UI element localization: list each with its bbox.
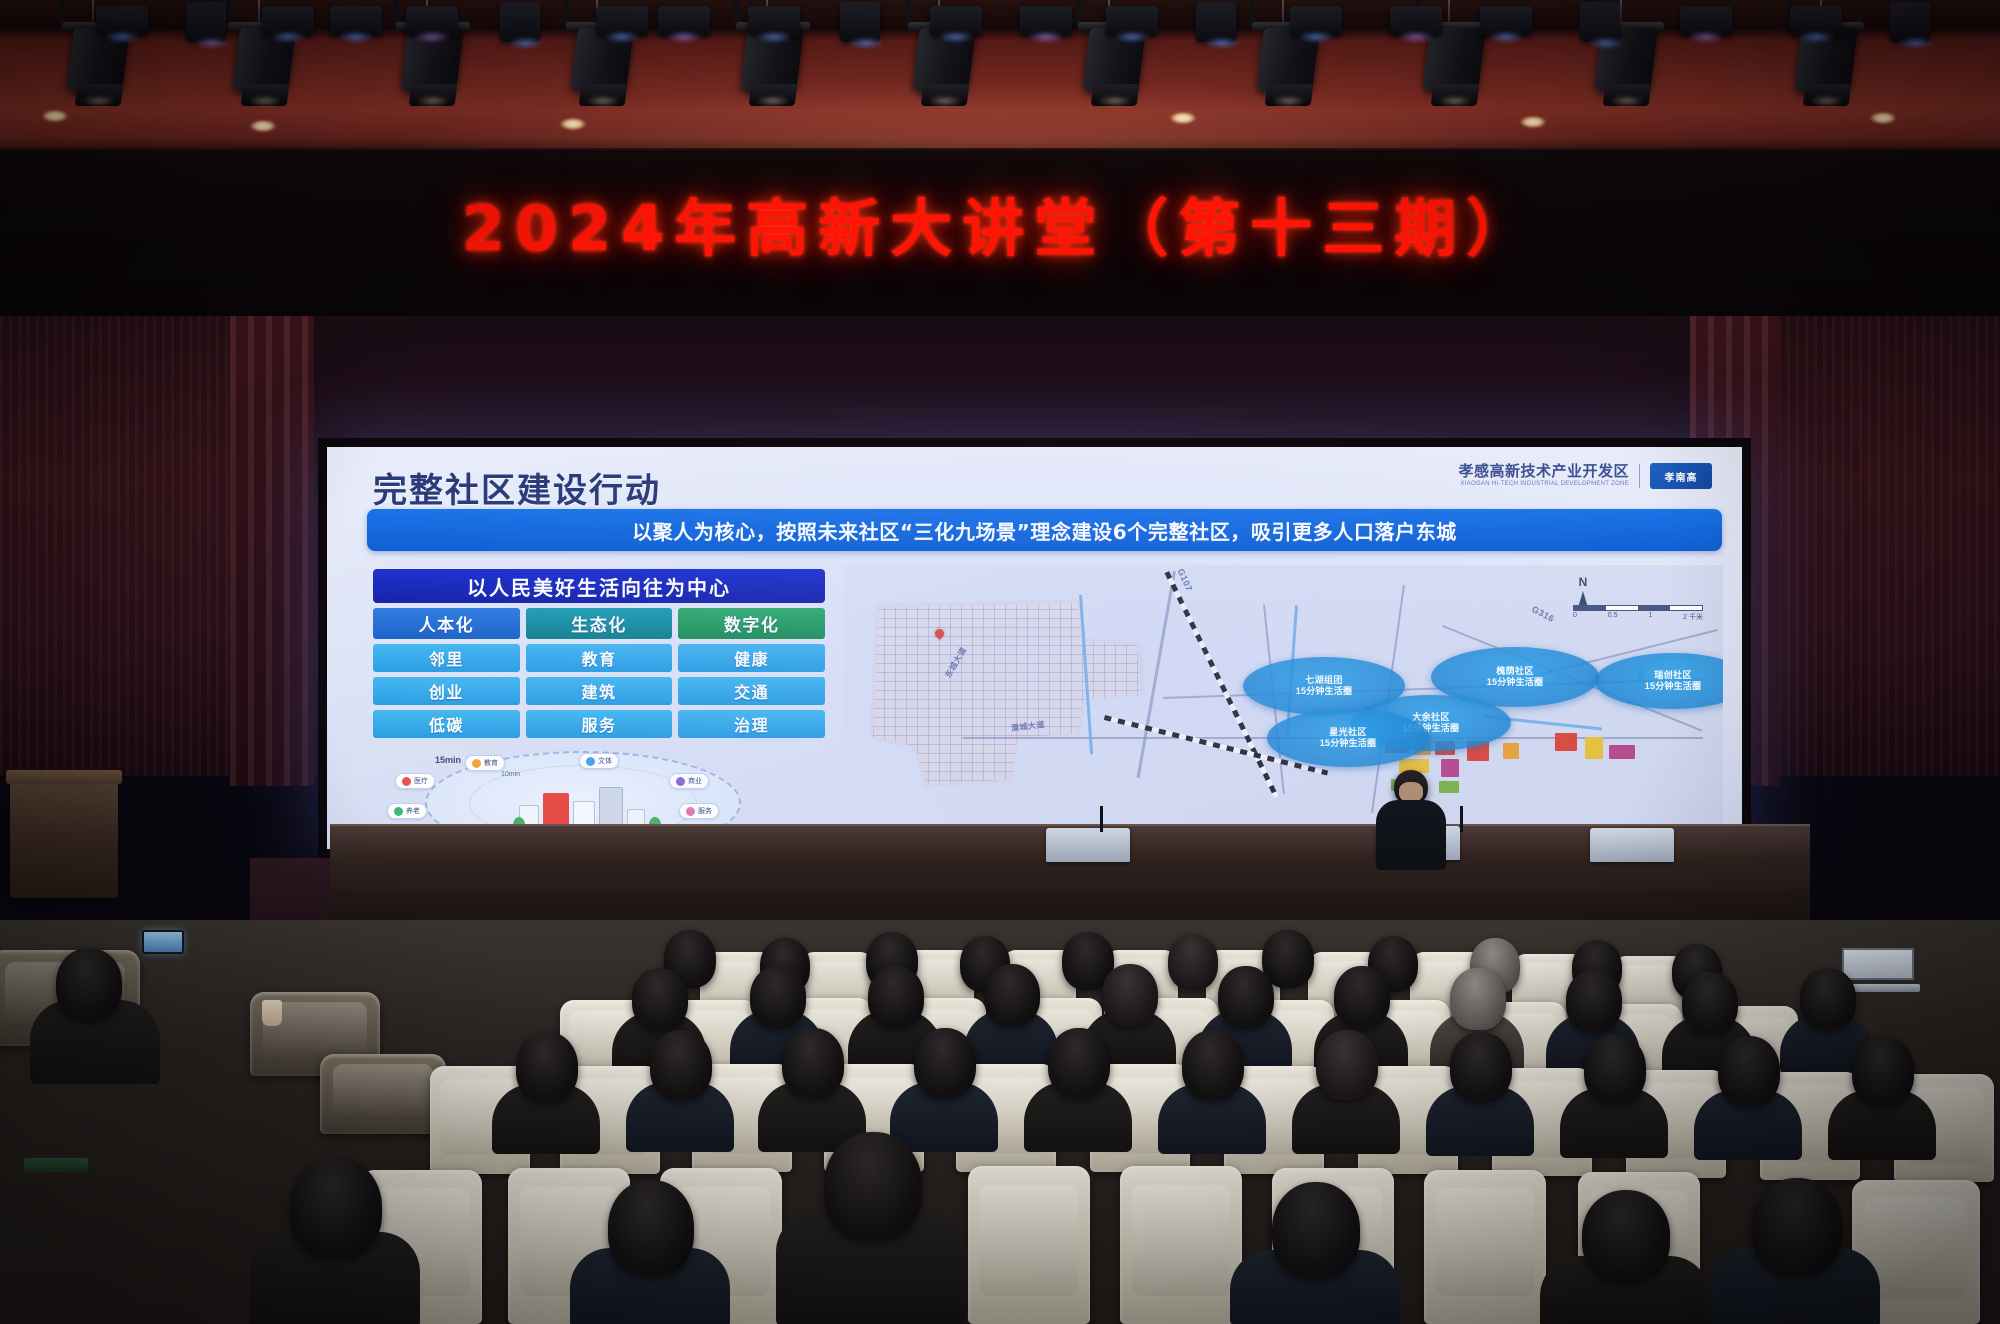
slide-brand: 孝感高新技术产业开发区 XIAOGAN HI-TECH INDUSTRIAL D… [1458,463,1712,489]
attendee-head [868,966,924,1028]
attendee-head [516,1032,578,1102]
attendee-head [1450,1032,1512,1102]
amenity-label: 养老 [406,806,420,816]
amenity-label: 文体 [598,756,612,766]
presenter-face [1399,782,1423,802]
attendee-head [1852,1036,1914,1106]
microphone-stand [1100,806,1103,832]
matrix-row: 低碳 服务 治理 [373,710,825,738]
slide-title: 完整社区建设行动 [373,463,661,512]
slide-headline-bar: 以聚人为核心，按照未来社区“三化九场景”理念建设6个完整社区，吸引更多人口落户东… [367,509,1722,551]
stage-wash-light [1680,6,1732,36]
development-block [1609,745,1635,759]
education-icon [472,759,481,768]
attendee-head [1182,1030,1244,1100]
service-icon [686,807,695,816]
presentation-slide: 完整社区建设行动 孝感高新技术产业开发区 XIAOGAN HI-TECH IND… [327,447,1742,849]
downlight [1870,112,1896,124]
amenity-node: 服务 [679,803,719,819]
downlight [1520,116,1546,128]
stage-wash-light [330,6,382,36]
downlight [250,120,276,132]
stage-wash-light [262,6,314,36]
zone-sub: 15分钟生活圈 [1320,738,1376,749]
auditorium-seat [1120,1166,1242,1324]
stage-wash-light [500,2,540,42]
compass-north-label: N [1571,575,1595,589]
development-block [1503,743,1519,759]
amenity-node: 教育 [465,755,505,771]
attendee-head [1566,970,1622,1032]
attendee-head [1584,1034,1646,1104]
amenity-node: 养老 [387,803,427,819]
proscenium-wall: 2024年高新大讲堂（第十三期） [0,148,2000,318]
matrix-cell: 交通 [678,677,825,705]
laptop-on-table [1046,828,1130,862]
zone-name: 大余社区 [1412,712,1450,723]
stage-wash-light [1580,2,1620,42]
attendee-head [1334,966,1390,1028]
attendee-head [984,964,1040,1026]
scale-tick: 0 [1573,612,1577,622]
culture-sports-icon [586,757,595,766]
side-wall-right [1760,316,2000,776]
label-15min: 15min [435,755,461,765]
matrix-column-headers: 人本化 生态化 数字化 [373,608,825,639]
district-map: G107 G316 澴城大道 东城大道 [843,565,1723,849]
attendee-head [1316,1030,1378,1100]
stage-wash-light [930,6,982,36]
matrix-cell: 健康 [678,644,825,672]
map-scale-bar: 0 0.5 1 2 千米 [1573,605,1703,622]
commerce-icon [676,777,685,786]
eldercare-icon [394,807,403,816]
matrix-cell: 治理 [678,710,825,738]
stage-wash-light [1480,6,1532,36]
stage-wash-light [748,6,800,36]
attendee-head [824,1132,922,1240]
zone-name: 瑞创社区 [1654,670,1692,681]
stage-wash-light [1890,2,1930,42]
stage-wash-light [1290,6,1342,36]
smartphone-recording [142,930,184,954]
matrix-row: 创业 建筑 交通 [373,677,825,705]
attendee-head [1582,1190,1670,1282]
attendee-head [782,1028,844,1098]
road-label-g316: G316 [1530,604,1556,624]
stage-wash-light [658,6,710,36]
laptop-on-table [1590,828,1674,862]
auditorium-photo: 2024年高新大讲堂（第十三期） 完整社区建设行动 孝感高新技术产业开发区 XI… [0,0,2000,1324]
attendee-head [1718,1036,1780,1106]
attendee-head [1102,964,1158,1026]
scale-tick: 2 千米 [1683,612,1703,622]
amenity-node: 商业 [669,773,709,789]
attendee-head [650,1030,712,1100]
brand-name-cn: 孝感高新技术产业开发区 [1458,464,1629,481]
brand-logo: 孝南高 [1650,463,1712,489]
auditorium-seat [968,1166,1090,1324]
matrix-cell: 教育 [526,644,673,672]
attendee-head [290,1158,382,1258]
matrix-col-0: 人本化 [373,608,520,639]
stage-wash-light [96,6,148,36]
matrix-cell: 低碳 [373,710,520,738]
matrix-col-2: 数字化 [678,608,825,639]
living-circle-zone: 星光社区 15分钟生活圈 [1267,709,1429,767]
side-wall-left [0,316,250,776]
attendee-head [1048,1028,1110,1098]
attendee-head [1752,1178,1842,1276]
zone-name: 槐荫社区 [1496,666,1534,677]
stage-wash-light [1020,6,1072,36]
zone-sub: 15分钟生活圈 [1645,681,1701,692]
matrix-cell: 服务 [526,710,673,738]
amenity-label: 商业 [688,776,702,786]
paper-cup [262,1000,282,1026]
stage-curtain-left [230,316,314,786]
amenity-node: 医疗 [395,773,435,789]
matrix-cell: 建筑 [526,677,673,705]
stage-wash-light [186,2,226,42]
district-boundary [857,595,1167,813]
presenter-person [1374,770,1448,870]
development-block [1585,737,1603,759]
stage-wash-light [1790,6,1842,36]
stage-wash-light [840,2,880,42]
attendee-head [914,1028,976,1098]
scale-segments [1573,605,1703,611]
attendee-head [1682,972,1738,1034]
label-10min: 10min [501,771,520,778]
downlight [1170,112,1196,124]
stage-wash-light [1196,2,1236,42]
attendee-head [1272,1182,1360,1278]
auditorium-seat [1424,1170,1546,1324]
living-circle-zone: 瑞创社区 15分钟生活圈 [1595,653,1723,709]
brand-name-en: XIAOGAN HI-TECH INDUSTRIAL DEVELOPMENT Z… [1458,481,1629,488]
attendee-head [1168,934,1218,990]
scale-tick: 1 [1648,612,1652,622]
zone-name: 星光社区 [1329,727,1367,738]
stage-wash-light [1106,6,1158,36]
downlight [42,110,68,122]
stage-wash-light [1390,6,1442,36]
scale-tick: 0.5 [1608,612,1618,622]
matrix-cell: 邻里 [373,644,520,672]
scale-tick-labels: 0 0.5 1 2 千米 [1573,612,1703,622]
attendee-head [1450,968,1506,1030]
zone-sub: 15分钟生活圈 [1487,677,1543,688]
presenter-body [1376,800,1446,870]
stage-wash-light [406,6,458,36]
lectern [10,778,118,898]
amenity-label: 教育 [484,758,498,768]
attendee-head [1218,966,1274,1028]
downlight [560,118,586,130]
amenity-label: 服务 [698,806,712,816]
matrix-row: 邻里 教育 健康 [373,644,825,672]
matrix-col-1: 生态化 [526,608,673,639]
attendee-head [632,968,688,1030]
microphone-stand [1460,806,1463,832]
amenity-node: 文体 [579,753,619,769]
matrix-cell: 创业 [373,677,520,705]
road-label-g107: G107 [1176,567,1195,593]
brand-divider [1639,464,1640,488]
attendee-head [56,948,122,1020]
event-banner-title: 2024年高新大讲堂（第十三期） [0,178,2000,268]
development-block [1555,733,1577,751]
concept-matrix: 以人民美好生活向往为中心 人本化 生态化 数字化 邻里 教育 健康 创业 建筑 … [373,569,825,743]
amenity-label: 医疗 [414,776,428,786]
led-display-screen: 完整社区建设行动 孝感高新技术产业开发区 XIAOGAN HI-TECH IND… [318,438,1751,858]
matrix-header: 以人民美好生活向往为中心 [373,569,825,603]
medical-icon [402,777,411,786]
zone-name: 七湖组团 [1305,675,1343,686]
attendee-head [608,1180,694,1276]
zone-sub: 15分钟生活圈 [1296,686,1352,697]
attendee-head [750,966,806,1028]
attendee-head [1800,968,1856,1030]
side-desk [320,1054,446,1134]
notebook [24,1158,88,1172]
stage-wash-light [596,6,648,36]
